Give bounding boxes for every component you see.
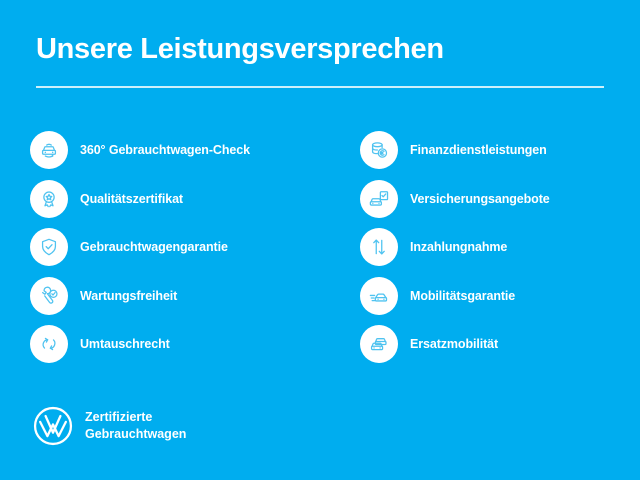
feature-label: Wartungsfreiheit bbox=[80, 289, 177, 303]
feature-item[interactable]: Ersatzmobilität bbox=[360, 320, 640, 369]
arrows-up-down-icon bbox=[360, 228, 398, 266]
brand-lockup: Zertifizierte Gebrauchtwagen bbox=[32, 405, 186, 447]
feature-item[interactable]: Gebrauchtwagengarantie bbox=[30, 223, 310, 272]
feature-item[interactable]: Versicherungsangebote bbox=[360, 175, 640, 224]
feature-column-left: 360° Gebrauchtwagen-Check Qualitätszerti… bbox=[30, 126, 310, 369]
feature-item[interactable]: Qualitätszertifikat bbox=[30, 175, 310, 224]
feature-item[interactable]: Umtauschrecht bbox=[30, 320, 310, 369]
feature-label: Ersatzmobilität bbox=[410, 337, 498, 351]
volkswagen-logo bbox=[32, 405, 74, 447]
brand-line-1: Zertifizierte bbox=[85, 410, 152, 424]
car-360-check-icon bbox=[30, 131, 68, 169]
car-document-check-icon bbox=[360, 180, 398, 218]
car-motion-icon bbox=[360, 277, 398, 315]
page-title: Unsere Leistungsversprechen bbox=[36, 34, 444, 66]
feature-label: 360° Gebrauchtwagen-Check bbox=[80, 143, 250, 157]
feature-label: Finanzdienstleistungen bbox=[410, 143, 547, 157]
feature-label: Umtauschrecht bbox=[80, 337, 170, 351]
feature-label: Versicherungsangebote bbox=[410, 192, 550, 206]
feature-item[interactable]: Mobilitätsgarantie bbox=[360, 272, 640, 321]
brand-line-2: Gebrauchtwagen bbox=[85, 427, 186, 441]
feature-item[interactable]: 360° Gebrauchtwagen-Check bbox=[30, 126, 310, 175]
award-rosette-icon bbox=[30, 180, 68, 218]
feature-label: Qualitätszertifikat bbox=[80, 192, 183, 206]
wrench-check-icon bbox=[30, 277, 68, 315]
title-divider bbox=[36, 86, 604, 88]
two-cars-icon bbox=[360, 325, 398, 363]
brand-text: Zertifizierte Gebrauchtwagen bbox=[85, 409, 186, 443]
promise-panel: Unsere Leistungsversprechen 360° G bbox=[0, 0, 640, 480]
feature-label: Mobilitätsgarantie bbox=[410, 289, 515, 303]
feature-column-right: Finanzdienstleistungen Versicherungsange… bbox=[360, 126, 640, 369]
feature-label: Gebrauchtwagengarantie bbox=[80, 240, 228, 254]
feature-item[interactable]: Inzahlungnahme bbox=[360, 223, 640, 272]
exchange-arrows-icon bbox=[30, 325, 68, 363]
coins-euro-icon bbox=[360, 131, 398, 169]
feature-item[interactable]: Finanzdienstleistungen bbox=[360, 126, 640, 175]
feature-label: Inzahlungnahme bbox=[410, 240, 507, 254]
shield-check-icon bbox=[30, 228, 68, 266]
feature-item[interactable]: Wartungsfreiheit bbox=[30, 272, 310, 321]
